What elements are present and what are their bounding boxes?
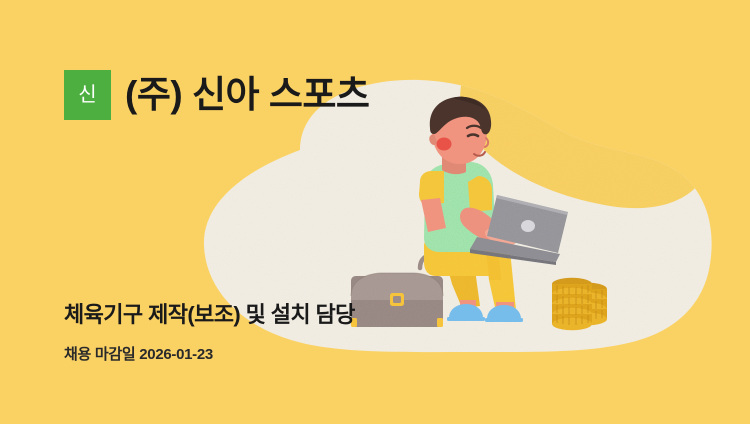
job-title: 체육기구 제작(보조) 및 설치 담당 bbox=[64, 297, 355, 329]
application-deadline: 채용 마감일 2026-01-23 bbox=[64, 343, 213, 364]
job-posting-banner: 신 (주) 신아 스포츠 체육기구 제작(보조) 및 설치 담당 채용 마감일 … bbox=[0, 0, 750, 424]
company-header: 신 (주) 신아 스포츠 bbox=[64, 70, 369, 120]
text-layer: 신 (주) 신아 스포츠 체육기구 제작(보조) 및 설치 담당 채용 마감일 … bbox=[0, 0, 750, 424]
company-initial-badge: 신 bbox=[64, 70, 111, 120]
company-name: (주) 신아 스포츠 bbox=[125, 76, 369, 115]
